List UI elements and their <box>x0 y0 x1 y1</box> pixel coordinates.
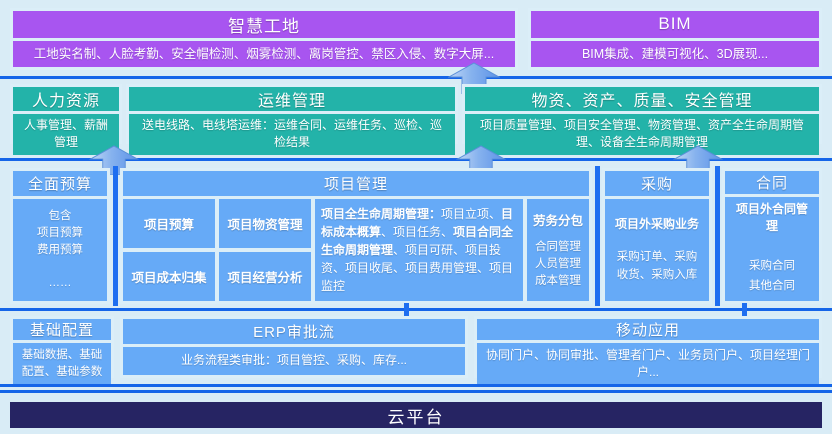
labor-subcontract-title: 劳务分包 <box>533 210 583 229</box>
smart-site-body: 工地实名制、人脸考勤、安全帽检测、烟雾检测、离岗管控、禁区入侵、数字大屏... <box>13 41 515 67</box>
erp-flow-body: 业务流程类审批：项目管控、采购、库存... <box>123 347 465 375</box>
purchase-body: 采购订单、采购 收货、采购入库 <box>617 249 698 284</box>
purchase-header: 采购 <box>605 171 709 196</box>
card-mobile-app[interactable]: 移动应用 协同门户、协同审批、管理者门户、业务员门户、项目经理门户... <box>474 316 822 378</box>
divider-row3-row4 <box>0 308 832 311</box>
divider-footer-top <box>0 390 832 393</box>
ops-header: 运维管理 <box>129 87 455 111</box>
divider-row4-footer <box>0 384 832 387</box>
card-erp-approval-flow[interactable]: ERP审批流 业务流程类审批：项目管控、采购、库存... <box>120 316 468 378</box>
separator-budget-project <box>113 166 118 306</box>
hr-body: 人事管理、薪酬管理 <box>13 114 119 155</box>
card-ops[interactable]: 运维管理 送电线路、电线塔运维：运维合同、运维任务、巡检、巡检结果 <box>126 84 458 144</box>
card-contract[interactable]: 合同 项目外合同管理 采购合同 其他合同 <box>722 168 822 304</box>
contract-body-wrap: 项目外合同管理 采购合同 其他合同 <box>725 197 819 301</box>
erp-flow-header: ERP审批流 <box>123 319 465 344</box>
card-base-config[interactable]: 基础配置 基础数据、基础 配置、基础参数 <box>10 316 114 378</box>
card-hr[interactable]: 人力资源 人事管理、薪酬管理 <box>10 84 122 144</box>
separator-purchase-contract <box>715 166 720 306</box>
card-purchase[interactable]: 采购 项目外采购业务 采购订单、采购 收货、采购入库 <box>602 168 712 304</box>
card-smart-site[interactable]: 智慧工地 工地实名制、人脸考勤、安全帽检测、烟雾检测、离岗管控、禁区入侵、数字大… <box>10 8 518 70</box>
mobile-header: 移动应用 <box>477 319 819 340</box>
separator-project-purchase <box>595 166 600 306</box>
contract-header: 合同 <box>725 171 819 194</box>
card-materials-assets-quality-safety[interactable]: 物资、资产、质量、安全管理 项目质量管理、项目安全管理、物资管理、资产全生命周期… <box>462 84 822 144</box>
divider-row2-row3 <box>0 158 832 161</box>
full-budget-body: 包含 项目预算 费用预算 …… <box>13 199 107 301</box>
card-bim[interactable]: BIM BIM集成、建模可视化、3D展现... <box>528 8 822 70</box>
materials-body: 项目质量管理、项目安全管理、物资管理、资产全生命周期管理、设备全生命周期管理 <box>465 114 819 155</box>
materials-header: 物资、资产、质量、安全管理 <box>465 87 819 111</box>
tile-project-operation-analysis[interactable]: 项目经营分析 <box>219 252 311 301</box>
full-budget-header: 全面预算 <box>13 171 107 196</box>
ops-body: 送电线路、电线塔运维：运维合同、运维任务、巡检、巡检结果 <box>129 114 455 155</box>
divider-row1-row2 <box>0 76 832 79</box>
card-full-budget[interactable]: 全面预算 包含 项目预算 费用预算 …… <box>10 168 110 304</box>
smart-site-header: 智慧工地 <box>13 11 515 38</box>
hr-header: 人力资源 <box>13 87 119 111</box>
cloud-platform-bar[interactable]: 云平台 <box>10 402 822 428</box>
tile-labor-subcontract[interactable]: 劳务分包 合同管理 人员管理 成本管理 <box>527 199 589 301</box>
tile-project-budget[interactable]: 项目预算 <box>123 199 215 248</box>
connector-mobile-to-purchase <box>742 303 747 317</box>
project-lifecycle-text: 项目全生命周期管理：项目立项、目标成本概算、项目任务、项目合同全生命周期管理、项… <box>315 203 523 297</box>
labor-subcontract-body: 合同管理 人员管理 成本管理 <box>535 239 581 289</box>
tile-project-lifecycle[interactable]: 项目全生命周期管理：项目立项、目标成本概算、项目任务、项目合同全生命周期管理、项… <box>315 199 523 301</box>
contract-body: 采购合同 其他合同 <box>749 256 795 297</box>
project-management-header: 项目管理 <box>123 171 589 196</box>
base-config-body: 基础数据、基础 配置、基础参数 <box>13 343 111 384</box>
bim-header: BIM <box>531 11 819 38</box>
mobile-body: 协同门户、协同审批、管理者门户、业务员门户、项目经理门户... <box>477 343 819 386</box>
purchase-body-wrap: 项目外采购业务 采购订单、采购 收货、采购入库 <box>605 199 709 301</box>
cloud-platform-label: 云平台 <box>388 403 445 428</box>
tile-project-cost-collection[interactable]: 项目成本归集 <box>123 252 215 301</box>
tile-project-materials[interactable]: 项目物资管理 <box>219 199 311 248</box>
architecture-diagram: 智慧工地 工地实名制、人脸考勤、安全帽检测、烟雾检测、离岗管控、禁区入侵、数字大… <box>0 0 832 434</box>
card-project-management[interactable]: 项目管理 项目预算 项目物资管理 项目成本归集 项目经营分析 项目全生命周期管理… <box>120 168 592 304</box>
connector-erp-to-project <box>404 303 409 317</box>
purchase-title: 项目外采购业务 <box>615 216 699 233</box>
base-config-header: 基础配置 <box>13 319 111 340</box>
bim-body: BIM集成、建模可视化、3D展现... <box>531 41 819 67</box>
contract-title: 项目外合同管理 <box>733 201 811 236</box>
